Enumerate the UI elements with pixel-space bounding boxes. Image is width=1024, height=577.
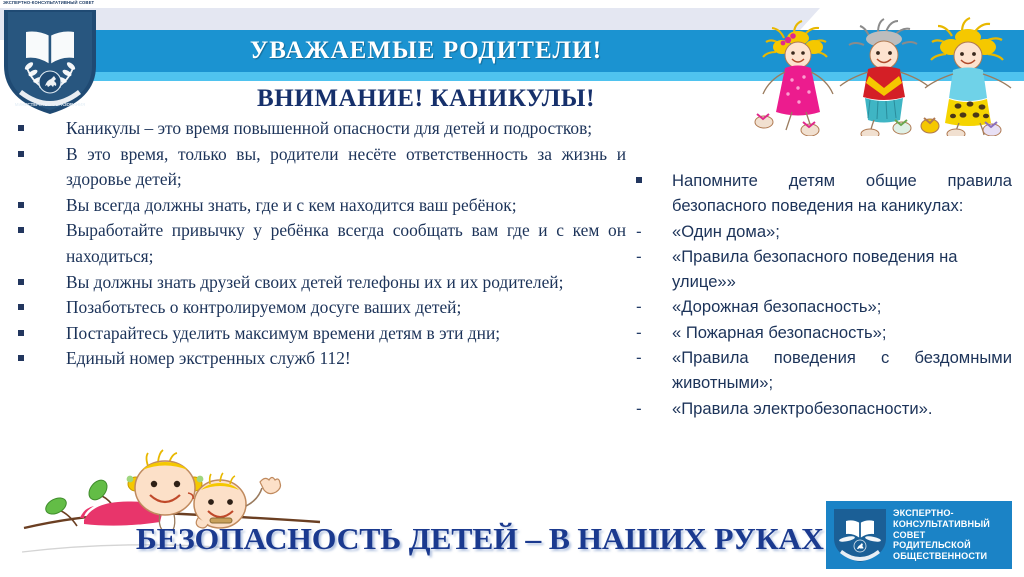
micro-header-text: ЭКСПЕРТНО-КОНСУЛЬТАТИВНЫЙ СОВЕТ [3,0,94,5]
list-item-text: « Пожарная безопасность»; [672,320,1012,345]
list-item: Вы всегда должны знать, где и с кем нахо… [14,193,626,219]
ministry-shield-emblem: МИНИСТЕРСТВО ОБРАЗОВАНИЯ [0,8,100,116]
council-logo-text: Экспертно- Консультативный Совет Родител… [890,508,1012,562]
poster-canvas: ЭКСПЕРТНО-КОНСУЛЬТАТИВНЫЙ СОВЕТ УВАЖАЕМЫ… [0,0,1024,577]
list-item: - «Правила поведения с бездомными животн… [630,345,1012,396]
dash-bullet-icon: - [630,244,672,269]
left-bullet-list: Каникулы – это время повышенной опасност… [14,116,626,372]
square-bullet-icon [14,218,66,244]
list-item: Вы должны знать друзей своих детей телеф… [14,270,626,296]
council-shield-icon [830,506,890,564]
logo-line-2: Консультативный [893,519,1012,530]
list-item: Каникулы – это время повышенной опасност… [14,116,626,142]
list-item: В это время, только вы, родители несёте … [14,142,626,193]
list-item-text: Напомните детям общие правила безопасног… [672,168,1012,219]
list-item-text: «Дорожная безопасность»; [672,294,1012,319]
list-item: Позаботьтесь о контролируемом досуге ваш… [14,295,626,321]
child-girl-pink [755,21,833,136]
three-children-illustration [752,14,1024,136]
list-item: - «Дорожная безопасность»; [630,294,1012,319]
list-item: Постарайтесь уделить максимум времени де… [14,321,626,347]
square-bullet-icon [14,142,66,168]
square-bullet-icon [14,193,66,219]
svg-text:МИНИСТЕРСТВО ОБРАЗОВАНИЯ: МИНИСТЕРСТВО ОБРАЗОВАНИЯ [15,102,86,107]
list-item: Выработайте привычку у ребёнка всегда со… [14,218,626,269]
list-item-text: Каникулы – это время повышенной опасност… [66,116,626,142]
council-logo: Экспертно- Консультативный Совет Родител… [826,501,1012,569]
page-title: УВАЖАЕМЫЕ РОДИТЕЛИ! [76,30,776,72]
logo-line-3: Совет [893,530,1012,541]
logo-line-4: Родительской [893,540,1012,551]
list-item: - « Пожарная безопасность»; [630,320,1012,345]
list-item-text: «Правила электробезопасности». [672,396,1012,421]
list-item-text: Выработайте привычку у ребёнка всегда со… [66,218,626,269]
square-bullet-icon [14,295,66,321]
square-bullet-icon [14,321,66,347]
logo-line-1: Экспертно- [893,508,1012,519]
square-bullet-icon [14,116,66,142]
list-item: Единый номер экстренных служб 112! [14,346,626,372]
square-bullet-icon [14,270,66,296]
right-bullet-list: Напомните детям общие правила безопасног… [630,168,1012,421]
page-subtitle: ВНИМАНИЕ! КАНИКУЛЫ! [76,82,776,116]
logo-line-5: Общественности [893,551,1012,562]
list-item-intro: Напомните детям общие правила безопасног… [630,168,1012,219]
list-item: - «Один дома»; [630,219,1012,244]
list-item: - «Правила электробезопасности». [630,396,1012,421]
child-boy-red [840,19,939,136]
list-item-text: Вы должны знать друзей своих детей телеф… [66,270,626,296]
list-item-text: В это время, только вы, родители несёте … [66,142,626,193]
list-item-text: Позаботьтесь о контролируемом досуге ваш… [66,295,626,321]
dash-bullet-icon: - [630,345,672,370]
square-bullet-icon [630,168,672,193]
square-bullet-icon [14,346,66,372]
list-item-text: «Один дома»; [672,219,1012,244]
list-item: - «Правила безопасного поведения на улиц… [630,244,1012,295]
child-girl-blue [925,18,1011,136]
list-item-text: Единый номер экстренных служб 112! [66,346,626,372]
list-item-text: «Правила поведения с бездомными животным… [672,345,1012,396]
dash-bullet-icon: - [630,294,672,319]
bottom-slogan: БЕЗОПАСНОСТЬ ДЕТЕЙ – В НАШИХ РУКАХ! [126,517,844,561]
dash-bullet-icon: - [630,396,672,421]
dash-bullet-icon: - [630,219,672,244]
list-item-text: «Правила безопасного поведения на улице»… [672,244,1012,295]
dash-bullet-icon: - [630,320,672,345]
list-item-text: Постарайтесь уделить максимум времени де… [66,321,626,347]
list-item-text: Вы всегда должны знать, где и с кем нахо… [66,193,626,219]
